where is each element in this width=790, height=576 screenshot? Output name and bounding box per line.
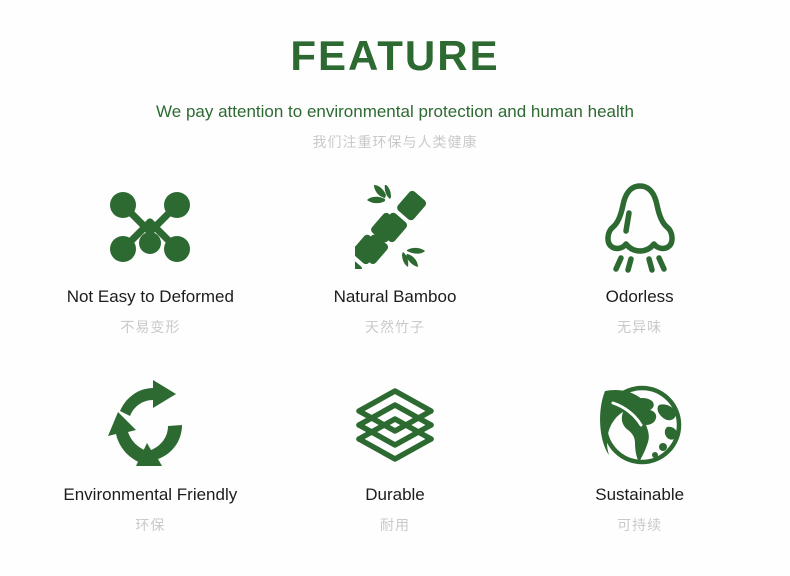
feature-label-english: Durable: [365, 485, 425, 505]
subtitle-chinese: 我们注重环保与人类健康: [0, 134, 790, 151]
feature-label-english: Sustainable: [595, 485, 684, 505]
feature-item-sustainable: Sustainable 可持续: [517, 371, 762, 567]
globe-leaf-icon: [597, 371, 683, 477]
bamboo-icon: [355, 175, 435, 279]
feature-item-not-easy-to-deformed: Not Easy to Deformed 不易变形: [28, 175, 273, 371]
feature-label-chinese: 不易变形: [120, 319, 180, 336]
feature-label-english: Odorless: [606, 287, 674, 307]
feature-item-natural-bamboo: Natural Bamboo 天然竹子: [273, 175, 518, 371]
subtitle-english: We pay attention to environmental protec…: [0, 102, 790, 122]
feature-grid: Not Easy to Deformed 不易变形: [0, 175, 790, 567]
feature-item-environmental-friendly: Environmental Friendly 环保: [28, 371, 273, 567]
feature-label-chinese: 无异味: [617, 319, 662, 336]
feature-label-chinese: 环保: [135, 517, 165, 534]
feature-label-chinese: 耐用: [380, 517, 410, 534]
feature-label-english: Environmental Friendly: [63, 485, 237, 505]
layers-icon: [353, 371, 437, 477]
feature-section: FEATURE We pay attention to environmenta…: [0, 0, 790, 576]
nose-icon: [602, 175, 678, 279]
feature-label-chinese: 可持续: [617, 517, 662, 534]
recycle-icon: [106, 371, 194, 477]
feature-item-durable: Durable 耐用: [273, 371, 518, 567]
section-header: FEATURE We pay attention to environmenta…: [0, 0, 790, 151]
molecular-structure-icon: [106, 175, 194, 279]
feature-item-odorless: Odorless 无异味: [517, 175, 762, 371]
feature-label-english: Natural Bamboo: [334, 287, 457, 307]
feature-label-english: Not Easy to Deformed: [67, 287, 234, 307]
feature-label-chinese: 天然竹子: [365, 319, 425, 336]
page-title: FEATURE: [0, 34, 790, 78]
